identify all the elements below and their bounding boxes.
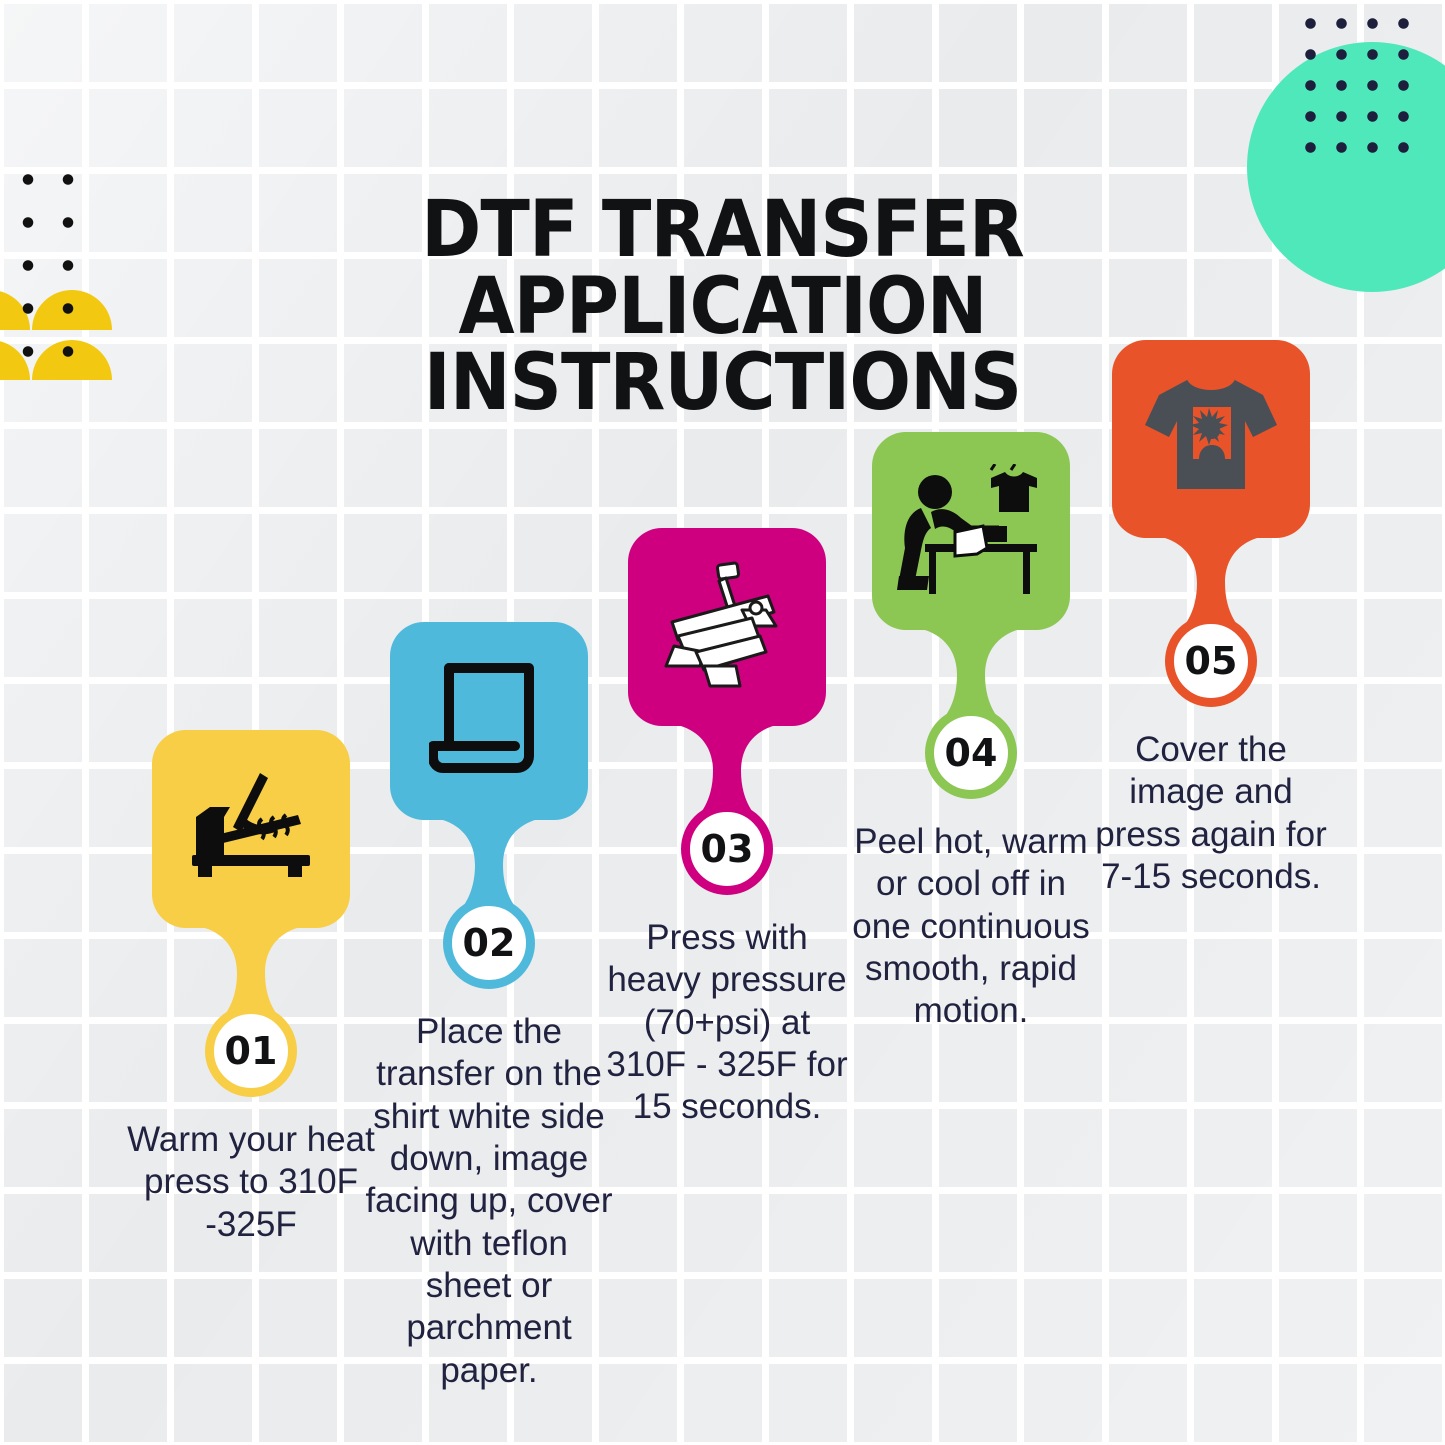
step-card-02[interactable] bbox=[390, 622, 588, 820]
peeling-worker-icon bbox=[895, 464, 1047, 598]
step-number-badge-01: 01 bbox=[205, 1005, 297, 1097]
step-card-05[interactable] bbox=[1112, 340, 1310, 538]
heat-press-machine-icon bbox=[656, 560, 798, 694]
step-number-02: 02 bbox=[463, 921, 516, 965]
step-item-01[interactable]: 01 Warm your heat press to 310F -325F bbox=[127, 730, 375, 1246]
step-caption-02: Place the transfer on the shirt white si… bbox=[365, 1011, 613, 1392]
step-number-badge-05: 05 bbox=[1165, 615, 1257, 707]
step-number-05: 05 bbox=[1185, 639, 1238, 683]
step-card-01[interactable] bbox=[152, 730, 350, 928]
printed-tshirt-icon bbox=[1141, 373, 1281, 505]
step-item-03[interactable]: 03 Press with heavy pressure (70+psi) at… bbox=[603, 528, 851, 1129]
step-number-badge-02: 02 bbox=[443, 897, 535, 989]
step-number-04: 04 bbox=[945, 731, 998, 775]
heat-press-icon bbox=[186, 771, 316, 887]
step-caption-03: Press with heavy pressure (70+psi) at 31… bbox=[603, 917, 851, 1129]
steps-container: 01 Warm your heat press to 310F -325F 02 bbox=[0, 0, 1445, 1445]
step-caption-04: Peel hot, warm or cool off in one contin… bbox=[847, 821, 1095, 1033]
step-caption-05: Cover the image and press again for 7-15… bbox=[1087, 729, 1335, 898]
step-number-badge-03: 03 bbox=[681, 803, 773, 895]
step-item-02[interactable]: 02 Place the transfer on the shirt white… bbox=[365, 622, 613, 1392]
step-card-03[interactable] bbox=[628, 528, 826, 726]
transfer-sheet-icon bbox=[429, 660, 549, 782]
step-item-04[interactable]: 04 Peel hot, warm or cool off in one con… bbox=[847, 432, 1095, 1033]
step-card-04[interactable] bbox=[872, 432, 1070, 630]
step-caption-01: Warm your heat press to 310F -325F bbox=[127, 1119, 375, 1246]
step-number-01: 01 bbox=[225, 1029, 278, 1073]
step-item-05[interactable]: 05 Cover the image and press again for 7… bbox=[1087, 340, 1335, 898]
step-number-badge-04: 04 bbox=[925, 707, 1017, 799]
step-number-03: 03 bbox=[701, 827, 754, 871]
